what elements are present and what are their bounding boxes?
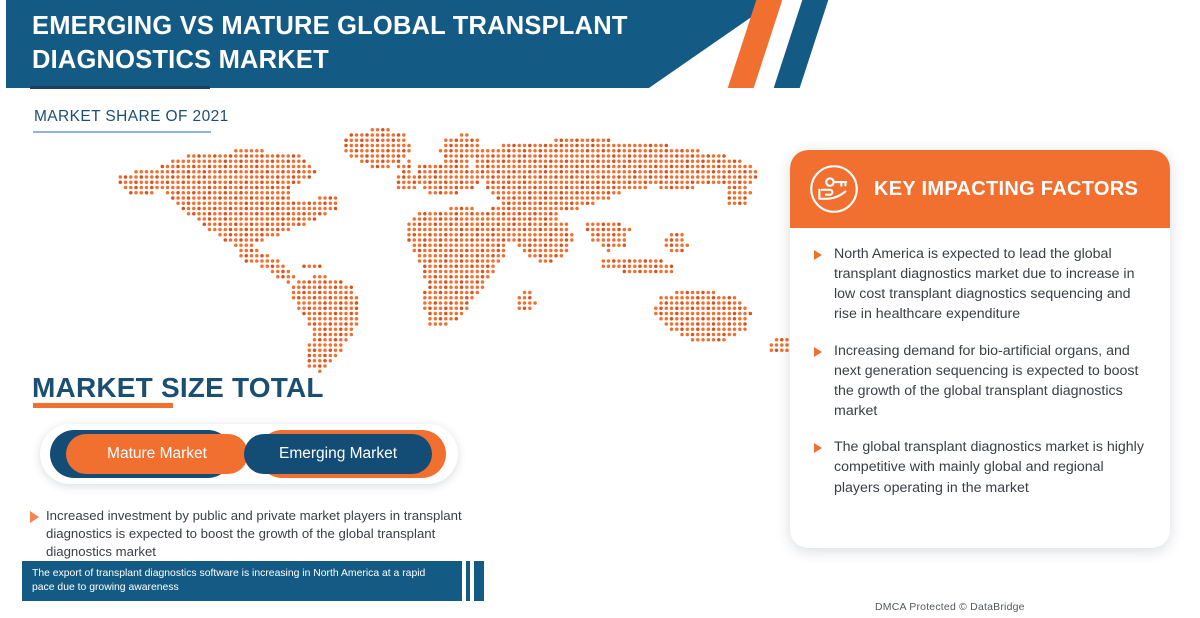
hand-holding-key-icon (808, 163, 860, 215)
footer-copyright: DMCA Protected © DataBridge (875, 601, 1025, 613)
triangle-bullet-icon (814, 443, 822, 453)
bottom-bar-tail-2 (474, 561, 484, 601)
market-size-bullet: Increased investment by public and priva… (30, 507, 470, 562)
world-dot-map (92, 112, 802, 380)
bottom-bar-separator-2 (470, 561, 474, 601)
bottom-bar-separator-1 (462, 561, 466, 601)
mature-market-label: Mature Market (107, 445, 207, 463)
triangle-bullet-icon (30, 511, 39, 523)
emerging-market-pill[interactable]: Emerging Market (244, 434, 432, 474)
page-title: EMERGING VS MATURE GLOBAL TRANSPLANT DIA… (32, 10, 692, 78)
triangle-bullet-icon (814, 250, 822, 260)
market-size-underline (33, 403, 173, 408)
list-item-text: The global transplant diagnostics market… (834, 437, 1148, 497)
mature-market-pill[interactable]: Mature Market (66, 434, 248, 474)
list-item: Increasing demand for bio-artificial org… (814, 341, 1148, 422)
key-factors-header: KEY IMPACTING FACTORS (790, 150, 1170, 228)
market-type-toggle: Mature Market Emerging Market (40, 430, 458, 478)
list-item-text: North America is expected to lead the gl… (834, 244, 1148, 325)
header-banner: EMERGING VS MATURE GLOBAL TRANSPLANT DIA… (0, 0, 1200, 88)
emerging-market-label: Emerging Market (279, 445, 397, 463)
key-factors-list: North America is expected to lead the gl… (790, 228, 1170, 514)
bottom-highlight-bar: The export of transplant diagnostics sof… (22, 561, 462, 601)
infographic-page: EMERGING VS MATURE GLOBAL TRANSPLANT DIA… (0, 0, 1200, 618)
triangle-bullet-icon (814, 347, 822, 357)
list-item: The global transplant diagnostics market… (814, 437, 1148, 497)
key-impacting-factors-card: KEY IMPACTING FACTORS North America is e… (790, 150, 1170, 548)
market-size-bullet-text: Increased investment by public and priva… (46, 507, 470, 562)
list-item-text: Increasing demand for bio-artificial org… (834, 341, 1148, 422)
header-underline (30, 86, 210, 89)
header-stripe-blue (774, 0, 829, 88)
list-item: North America is expected to lead the gl… (814, 244, 1148, 325)
key-factors-heading: KEY IMPACTING FACTORS (874, 178, 1138, 201)
market-size-title: MARKET SIZE TOTAL (32, 372, 324, 404)
bottom-highlight-text: The export of transplant diagnostics sof… (32, 567, 436, 595)
